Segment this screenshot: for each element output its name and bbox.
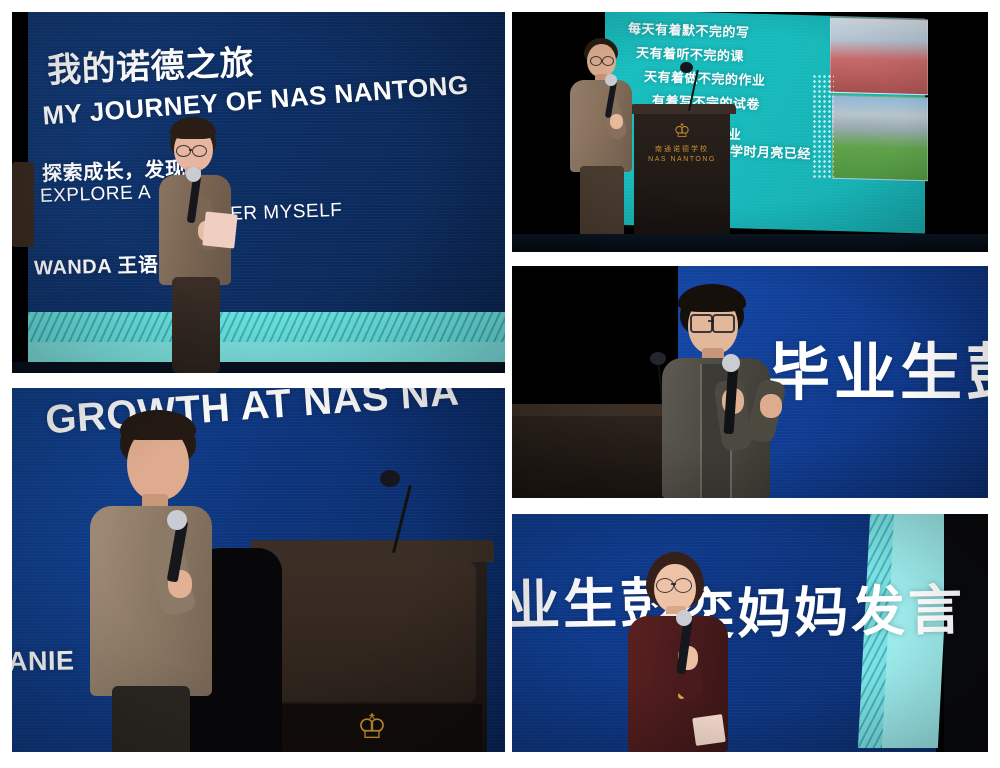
stage-floor [512,234,988,252]
microphone-head [722,354,740,372]
speaker-glasses-bridge [708,320,714,322]
slide-speaker-name: WANDA 王语 [34,248,159,280]
photo-graduate-peng[interactable]: 毕业生彭 [512,266,988,498]
speaker-fringe [678,284,746,312]
photo-teacher-podium[interactable]: 每天有着默不完的写 天有着听不完的课 天有着做不完的作业 有着写不完的试卷 业 … [512,12,988,252]
speaker-hand [610,114,623,129]
speaker-note-card [202,211,237,248]
speaker-glasses-bridge [189,149,192,151]
stage-prop [12,162,34,247]
slide-speaker-name: ANIE [12,645,75,677]
photo-student-wanda[interactable]: 我的诺德之旅 MY JOURNEY OF NAS NANTONG 探索成长，发现… [12,12,505,373]
speaker-hand-left [760,394,782,418]
speaker-glasses-right [712,314,735,333]
microphone-head [186,167,201,182]
speaker-note-card [692,714,726,746]
podium-microphone-head [380,470,400,487]
crown-icon: ♔ [644,122,720,141]
podium-microphone-head [680,62,693,73]
microphone-head [605,74,617,86]
podium-face [270,562,476,702]
speaker-figure [644,284,824,498]
slide-title-cn: 我的诺德之旅 [46,35,255,92]
screen-accent-band-lower [28,342,505,364]
speaker-glasses-left [656,578,674,593]
speaker-figure [142,117,262,373]
podium-logo: ♔ 南通诺德学校 NAS NANTONG [644,122,720,163]
podium-top-surface [250,540,494,562]
photo-collage: 我的诺德之旅 MY JOURNEY OF NAS NANTONG 探索成长，发现… [0,0,1000,768]
speaker-trousers [580,166,624,238]
speaker-glasses-right [674,578,692,593]
speaker-figure [72,410,257,752]
speaker-glasses-left [176,145,191,157]
slide-dot-pattern [812,74,834,179]
speaker-figure [616,552,758,752]
slide-line-6: 学时月亮已经 [730,141,812,163]
speaker-trousers [172,277,220,373]
speaker-glasses-right [602,56,614,66]
slide-subtitle-en-left: EXPLORE A [40,182,152,208]
speaker-figure [564,38,654,238]
microphone-head [167,510,187,530]
microphone-head [676,610,692,626]
podium-name-cn: 南通诺德学校 [644,144,720,154]
speaker-trousers [112,686,190,752]
slide-photo-classroom [830,17,928,96]
speaker-glasses-left [690,314,713,333]
speaker-glasses-left [590,56,602,66]
photo-parent-speech[interactable]: 业生彭 奕妈妈发言 [512,514,988,752]
photo-student-daniel[interactable]: GROWTH AT NAS NA ANIE ♔ [12,388,505,752]
slide-photo-field [832,95,928,182]
speaker-glasses-right [192,145,207,157]
speaker-glasses-bridge [671,583,676,585]
podium-logo: ♔ [312,710,432,744]
speaker-fringe [170,117,216,139]
speaker-fringe [120,410,196,440]
podium-name-en: NAS NANTONG [644,156,720,163]
screen-accent-band [28,312,505,342]
crown-icon: ♔ [312,710,432,744]
